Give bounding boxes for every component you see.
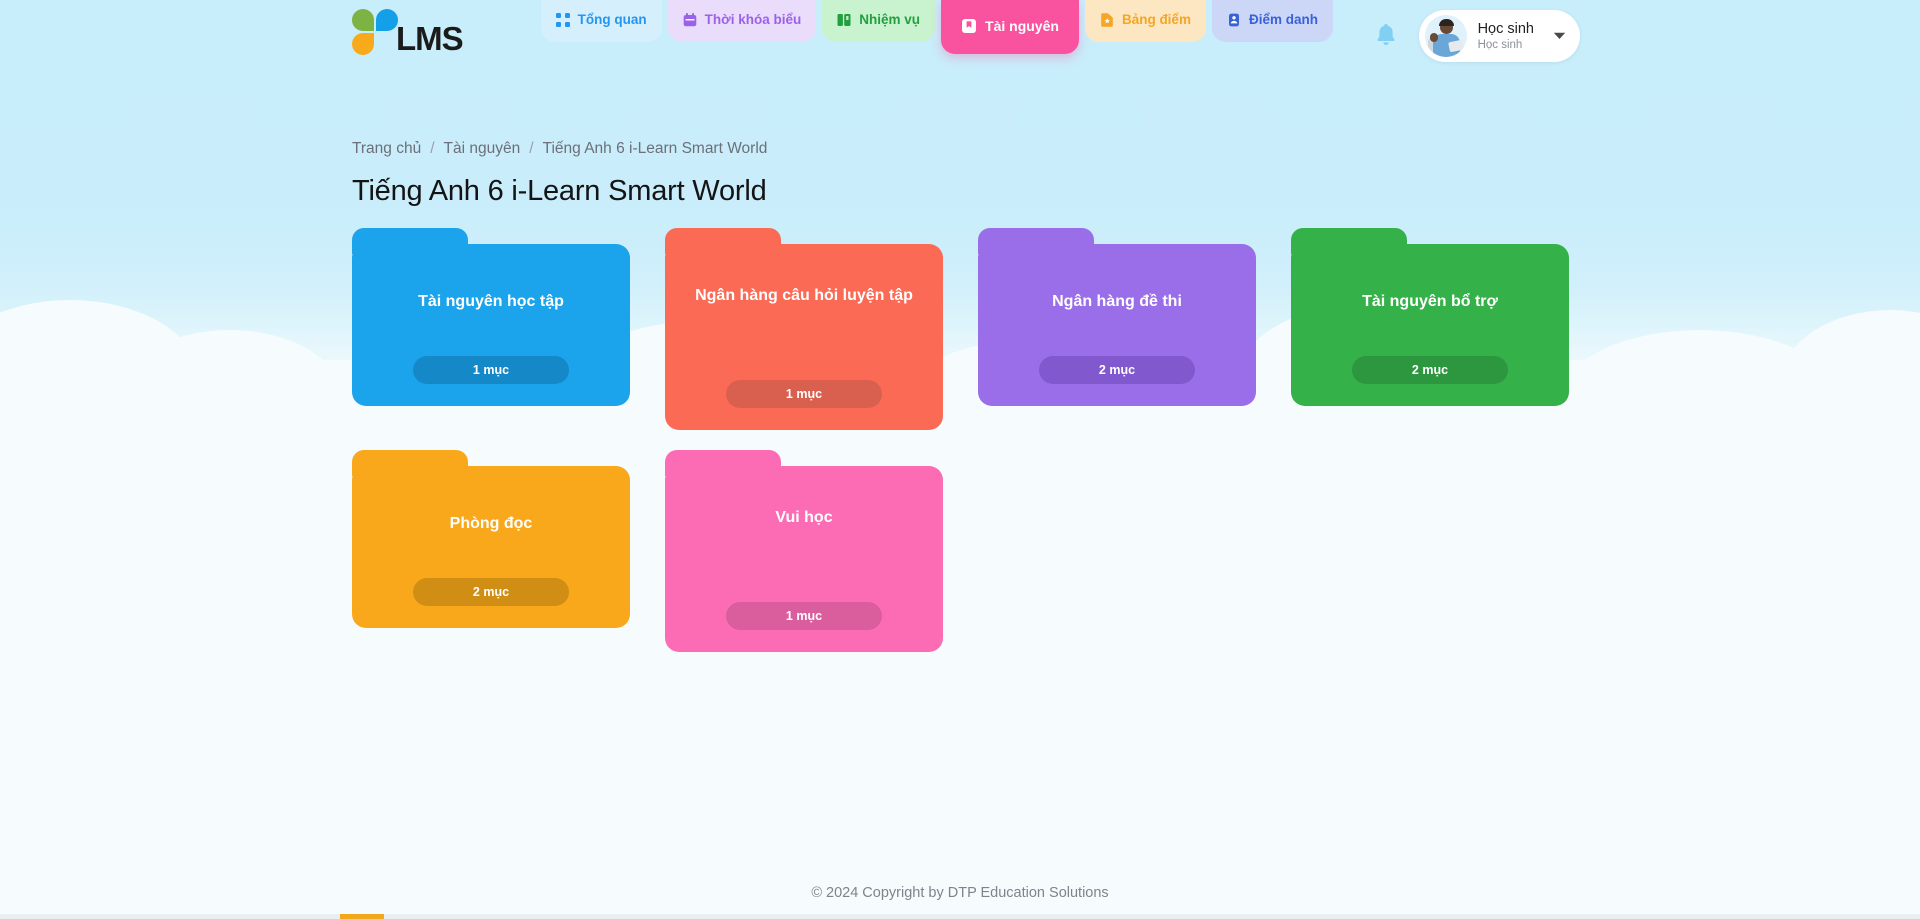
- nav-item-label: Tài nguyên: [985, 19, 1059, 33]
- folder-body: Tài nguyên học tập1 mục: [352, 244, 630, 406]
- footer-copyright: © 2024 Copyright by DTP Education Soluti…: [0, 885, 1920, 901]
- user-name: Học sinh: [1478, 20, 1534, 38]
- folder-count-badge: 2 mục: [1352, 356, 1508, 384]
- page-title: Tiếng Anh 6 i-Learn Smart World: [352, 175, 1920, 208]
- nav-item-bang-diem[interactable]: Bảng điểm: [1085, 0, 1206, 42]
- nav-item-label: Tổng quan: [578, 13, 647, 27]
- nav-item-label: Bảng điểm: [1122, 13, 1191, 27]
- nav-item-nhiem-vu[interactable]: Nhiệm vụ: [822, 0, 935, 42]
- logo-text: LMS: [396, 8, 463, 55]
- folder-title: Tài nguyên bổ trợ: [1309, 244, 1551, 313]
- breadcrumb-home[interactable]: Trang chủ: [352, 140, 421, 158]
- folder-count-badge: 1 mục: [726, 380, 882, 408]
- file-star-icon: [1100, 13, 1114, 27]
- nav-item-diem-danh[interactable]: Điểm danh: [1212, 0, 1333, 42]
- folder-title: Ngân hàng đề thi: [996, 244, 1238, 313]
- folder-count-badge: 2 mục: [1039, 356, 1195, 384]
- breadcrumb-section[interactable]: Tài nguyên: [444, 140, 521, 158]
- folder-card[interactable]: Phòng đọc2 mục: [352, 466, 630, 652]
- folder-title: Tài nguyên học tập: [370, 244, 612, 313]
- breadcrumb-separator: /: [529, 140, 533, 158]
- header-actions: Học sinh Học sinh: [1375, 10, 1580, 62]
- user-role: Học sinh: [1478, 38, 1534, 52]
- folder-body: Tài nguyên bổ trợ2 mục: [1291, 244, 1569, 406]
- scrollbar-thumb[interactable]: [340, 914, 384, 919]
- four-petal-logo-icon: [352, 9, 398, 55]
- main-navigation: Tổng quan Thời khóa biểu Nhiệm vụ Tài ng…: [541, 0, 1333, 54]
- app-header: LMS Tổng quan Thời khóa biểu Nhiệm vụ T: [0, 0, 1920, 70]
- nav-item-label: Thời khóa biểu: [705, 13, 802, 27]
- folder-title: Vui học: [683, 466, 925, 529]
- folder-card[interactable]: Ngân hàng câu hỏi luyện tập1 mục: [665, 244, 943, 430]
- nav-item-label: Nhiệm vụ: [859, 13, 920, 27]
- avatar: [1425, 15, 1467, 57]
- folder-title: Ngân hàng câu hỏi luyện tập: [683, 244, 925, 307]
- nav-item-tong-quan[interactable]: Tổng quan: [541, 0, 662, 42]
- breadcrumb-separator: /: [430, 140, 434, 158]
- folder-body: Ngân hàng đề thi2 mục: [978, 244, 1256, 406]
- folder-card[interactable]: Vui học1 mục: [665, 466, 943, 652]
- chevron-down-icon[interactable]: [1553, 27, 1566, 45]
- folder-title: Phòng đọc: [370, 466, 612, 535]
- nav-item-thoi-khoa-bieu[interactable]: Thời khóa biểu: [668, 0, 817, 42]
- book-icon: [837, 13, 851, 27]
- bookmark-icon: [961, 18, 977, 34]
- folder-card[interactable]: Tài nguyên học tập1 mục: [352, 244, 630, 430]
- app-logo[interactable]: LMS: [352, 8, 463, 55]
- breadcrumb-current: Tiếng Anh 6 i-Learn Smart World: [543, 140, 768, 158]
- horizontal-scrollbar[interactable]: [0, 914, 1920, 919]
- grid-icon: [556, 13, 570, 27]
- main-content: Trang chủ / Tài nguyên / Tiếng Anh 6 i-L…: [0, 140, 1920, 652]
- folder-body: Vui học1 mục: [665, 466, 943, 652]
- notification-bell-icon[interactable]: [1375, 24, 1397, 48]
- folder-card[interactable]: Tài nguyên bổ trợ2 mục: [1291, 244, 1569, 430]
- folder-count-badge: 2 mục: [413, 578, 569, 606]
- calendar-icon: [683, 13, 697, 27]
- user-menu[interactable]: Học sinh Học sinh: [1419, 10, 1580, 62]
- nav-item-tai-nguyen[interactable]: Tài nguyên: [941, 0, 1079, 54]
- folder-card[interactable]: Ngân hàng đề thi2 mục: [978, 244, 1256, 430]
- folder-count-badge: 1 mục: [726, 602, 882, 630]
- folder-body: Phòng đọc2 mục: [352, 466, 630, 628]
- folder-count-badge: 1 mục: [413, 356, 569, 384]
- breadcrumb: Trang chủ / Tài nguyên / Tiếng Anh 6 i-L…: [352, 140, 1920, 158]
- folder-body: Ngân hàng câu hỏi luyện tập1 mục: [665, 244, 943, 430]
- checkin-icon: [1227, 13, 1241, 27]
- nav-item-label: Điểm danh: [1249, 13, 1318, 27]
- folder-grid: Tài nguyên học tập1 mụcNgân hàng câu hỏi…: [352, 244, 1587, 652]
